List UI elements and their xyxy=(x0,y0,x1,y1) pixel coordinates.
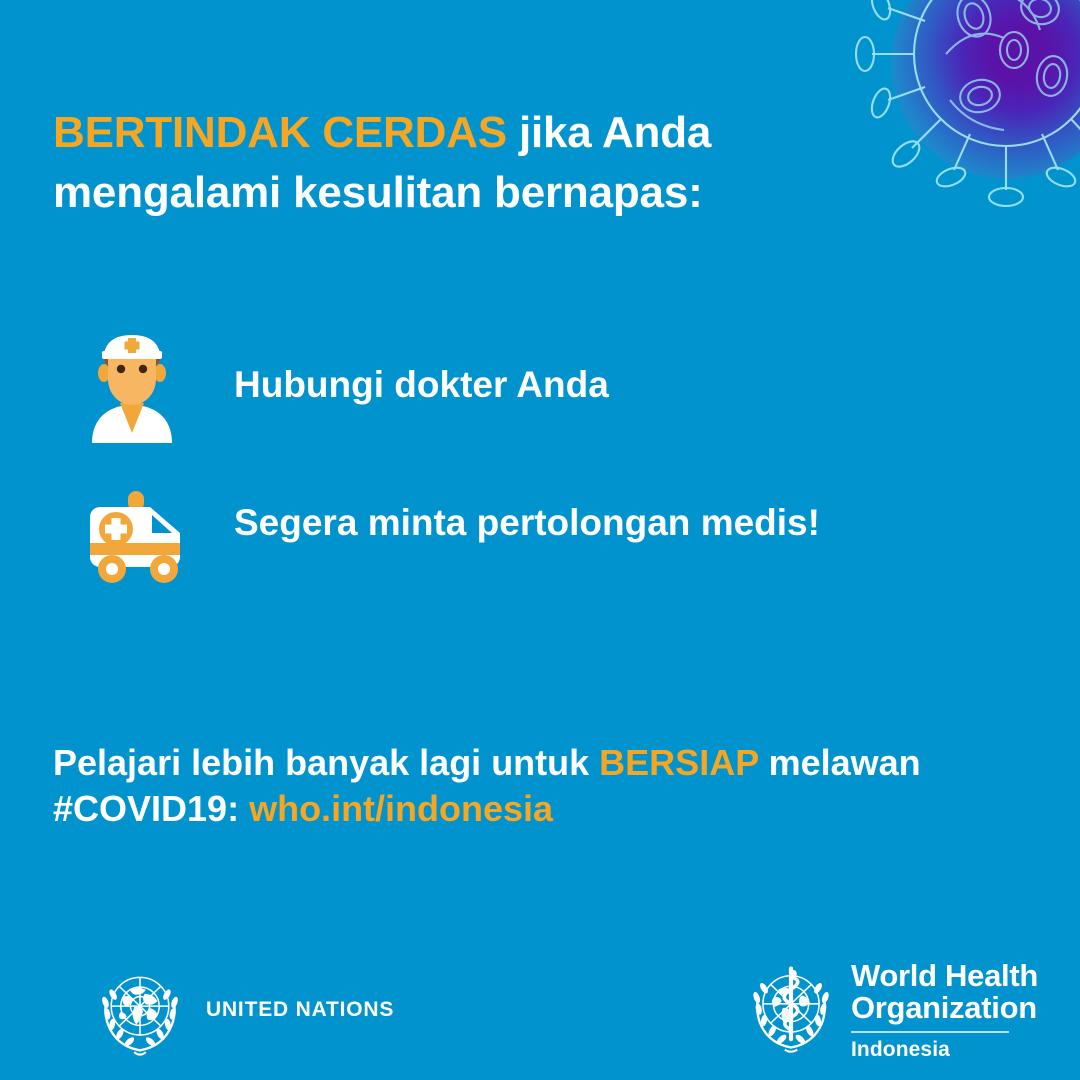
coronavirus-line-art-icon xyxy=(846,0,1080,224)
virus-glow xyxy=(891,0,1080,179)
nurse-icon xyxy=(84,333,180,443)
cta-accent-bersiap: BERSIAP xyxy=(599,742,758,783)
who-wordmark: World Health Organization Indonesia xyxy=(851,954,1038,1062)
un-emblem-icon xyxy=(92,962,188,1058)
page-title: BERTINDAK CERDAS jika Anda mengalami kes… xyxy=(53,103,853,224)
nurse-icon-wrap xyxy=(84,333,234,443)
cta-url-link[interactable]: who.int/indonesia xyxy=(249,788,553,829)
ambulance-icon-wrap xyxy=(84,485,234,595)
headline-line2: mengalami kesulitan bernapas: xyxy=(53,168,703,217)
who-country-label: Indonesia xyxy=(851,1038,1038,1062)
headline-rest-line1: jika Anda xyxy=(507,108,711,157)
who-line2: Organization xyxy=(851,992,1038,1024)
advice-item-doctor: Hubungi dokter Anda xyxy=(84,333,884,443)
advice-text-ambulance: Segera minta pertolongan medis! xyxy=(234,485,884,550)
cta-lead: Pelajari lebih banyak lagi untuk xyxy=(53,742,599,783)
advice-text-doctor: Hubungi dokter Anda xyxy=(234,333,884,412)
coronavirus-decoration xyxy=(846,0,1080,224)
advice-item-ambulance: Segera minta pertolongan medis! xyxy=(84,485,884,595)
united-nations-logo: UNITED NATIONS xyxy=(92,962,394,1058)
headline-accent: BERTINDAK CERDAS xyxy=(53,108,507,157)
cta-hashtag: #COVID19: xyxy=(53,788,249,829)
who-divider xyxy=(851,1031,1009,1033)
who-emblem-icon xyxy=(739,956,843,1060)
united-nations-label: UNITED NATIONS xyxy=(206,998,394,1022)
who-line1: World Health xyxy=(851,960,1038,992)
advice-list: Hubungi dokter Anda xyxy=(84,333,884,595)
who-logo: World Health Organization Indonesia xyxy=(739,954,1038,1062)
ambulance-icon xyxy=(84,491,192,587)
cta-mid: melawan xyxy=(759,742,921,783)
call-to-action: Pelajari lebih banyak lagi untuk BERSIAP… xyxy=(53,740,1013,833)
poster-canvas: BERTINDAK CERDAS jika Anda mengalami kes… xyxy=(0,0,1080,1080)
